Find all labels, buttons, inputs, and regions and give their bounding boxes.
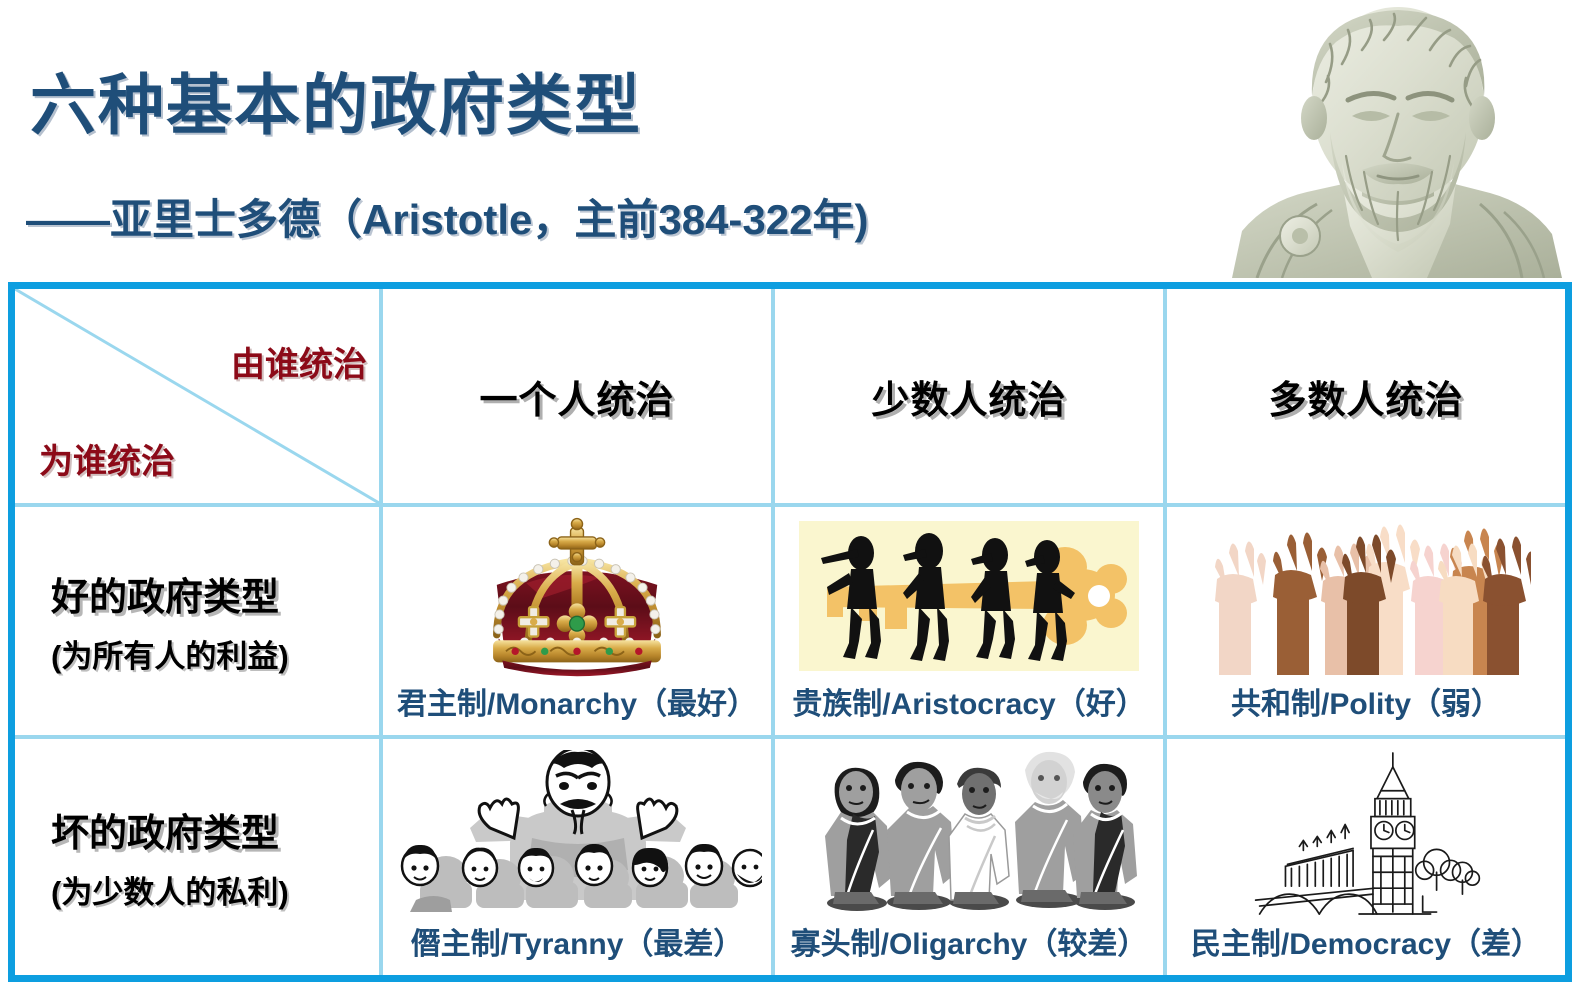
caption-tyranny: 僭主制/Tyranny（最差）: [411, 919, 744, 975]
column-header-few-people: 少数人统治: [775, 289, 1167, 507]
cell-monarchy: 君主制/Monarchy（最好）: [383, 507, 775, 739]
corner-label-ruled-by: 由谁统治: [231, 337, 367, 386]
row-header-good-government: 好的政府类型 (为所有人的利益): [15, 507, 383, 739]
caption-aristocracy: 贵族制/Aristocracy（好）: [792, 679, 1145, 735]
row-header-bad-government: 坏的政府类型 (为少数人的私利): [15, 739, 383, 975]
government-types-table: 由谁统治 为谁统治 一个人统治 少数人统治 多数人统治 好的政府类型 (为所有人…: [8, 282, 1572, 982]
four-figures-carrying-key-image: [775, 507, 1163, 679]
row-header-bad-title: 坏的政府类型: [51, 802, 379, 857]
aristotle-bust-image: [1222, 0, 1572, 278]
caption-polity: 共和制/Polity（弱）: [1231, 679, 1501, 735]
caption-democracy: 民主制/Democracy（差）: [1191, 919, 1541, 975]
slide-header: 六种基本的政府类型 ——亚里士多德（Aristotle，主前384-322年): [0, 0, 1580, 278]
raised-hands-image: [1167, 507, 1565, 679]
row-header-good-subtitle: (为所有人的利益): [51, 631, 379, 676]
row-header-bad-subtitle: (为少数人的私利): [51, 867, 379, 912]
cell-democracy: 民主制/Democracy（差）: [1167, 739, 1565, 975]
five-toga-elites-image: [775, 739, 1163, 919]
corner-label-ruled-for: 为谁统治: [39, 434, 175, 483]
cell-tyranny: 僭主制/Tyranny（最差）: [383, 739, 775, 975]
column-header-many-people: 多数人统治: [1167, 289, 1565, 507]
row-header-good-title: 好的政府类型: [51, 566, 379, 621]
caption-oligarchy: 寡头制/Oligarchy（较差）: [791, 919, 1148, 975]
tyrant-over-crowd-image: [383, 739, 771, 919]
caption-monarchy: 君主制/Monarchy（最好）: [397, 679, 757, 735]
cell-aristocracy: 贵族制/Aristocracy（好）: [775, 507, 1167, 739]
big-ben-sketch-image: [1167, 739, 1565, 919]
table-corner-header: 由谁统治 为谁统治: [15, 289, 383, 507]
column-header-one-person: 一个人统治: [383, 289, 775, 507]
cell-oligarchy: 寡头制/Oligarchy（较差）: [775, 739, 1167, 975]
page-subtitle: ——亚里士多德（Aristotle，主前384-322年): [26, 186, 868, 247]
page-title: 六种基本的政府类型: [30, 52, 642, 148]
cell-polity: 共和制/Polity（弱）: [1167, 507, 1565, 739]
royal-crown-image: [383, 507, 771, 679]
